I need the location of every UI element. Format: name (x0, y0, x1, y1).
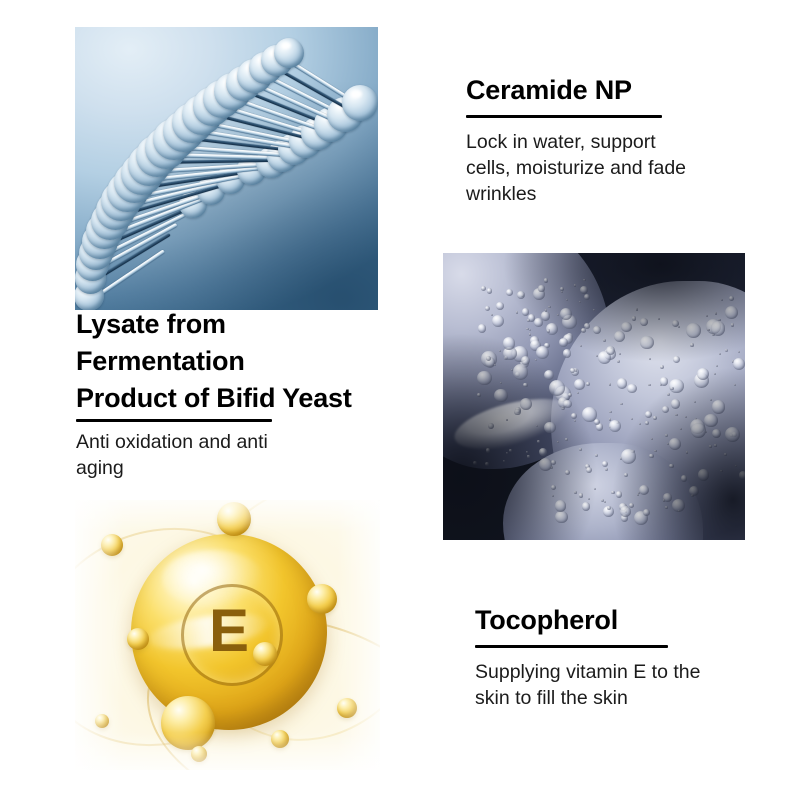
dna-double-helix-image (75, 27, 378, 310)
ingredient-block-tocopherol: Tocopherol Supplying vitamin E to the sk… (475, 602, 775, 711)
tocopherol-description: Supplying vitamin E to the skin to fill … (475, 659, 775, 711)
bifid-yeast-title-rule (76, 419, 272, 422)
vitamin-e-edge-fade (75, 500, 380, 770)
vitamin-e-droplet-image: E (75, 500, 380, 770)
tocopherol-title-rule (475, 645, 668, 648)
bifid-yeast-description: Anti oxidation and anti aging (76, 429, 428, 481)
bubbles-shadow-overlay (443, 253, 745, 540)
dna-sphere (274, 38, 304, 68)
infographic-canvas: Lysate from Fermentation Product of Bifi… (0, 0, 800, 800)
dna-sphere (342, 85, 378, 121)
tocopherol-title: Tocopherol (475, 602, 775, 639)
ingredient-block-ceramide-np: Ceramide NP Lock in water, support cells… (466, 72, 766, 207)
ingredient-block-bifid-yeast: Lysate from Fermentation Product of Bifi… (76, 306, 428, 481)
water-bubbles-image (443, 253, 745, 540)
ceramide-np-title: Ceramide NP (466, 72, 766, 109)
ceramide-np-title-rule (466, 115, 662, 118)
bifid-yeast-title: Lysate from Fermentation Product of Bifi… (76, 306, 428, 417)
ceramide-np-description: Lock in water, support cells, moisturize… (466, 129, 766, 207)
